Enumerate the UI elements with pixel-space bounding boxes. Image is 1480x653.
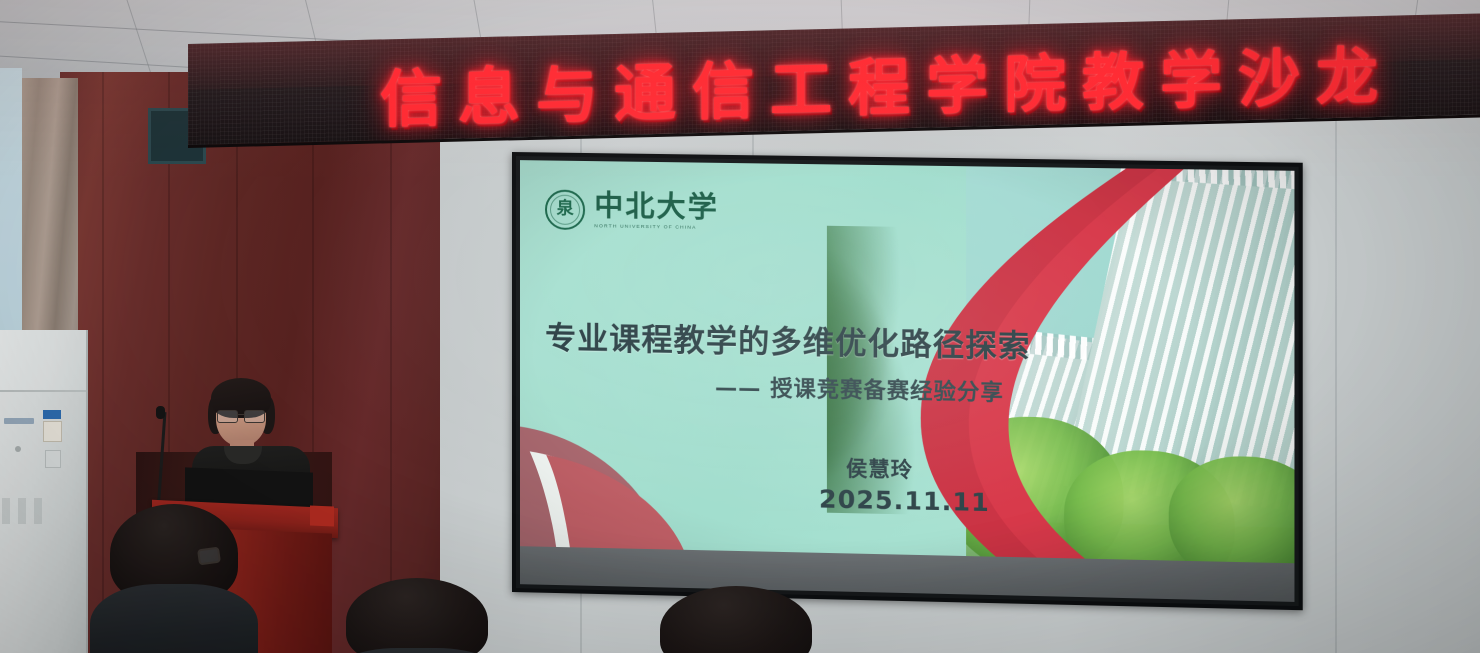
audience-member-left: [110, 504, 238, 653]
projection-screen: 泉 中北大学 NORTH UNIVERSITY OF CHINA 专业课程教学的…: [512, 152, 1303, 610]
ac-blue-sticker: [43, 410, 61, 419]
presentation-slide: 泉 中北大学 NORTH UNIVERSITY OF CHINA 专业课程教学的…: [520, 160, 1294, 563]
ac-energy-label: [43, 421, 62, 442]
slide-presenter-name: 侯慧玲: [846, 452, 913, 484]
ac-upper-grille: [0, 330, 86, 392]
projection-surface: 泉 中北大学 NORTH UNIVERSITY OF CHINA 专业课程教学的…: [520, 160, 1294, 602]
logo-text-block: 中北大学 NORTH UNIVERSITY OF CHINA: [594, 191, 719, 231]
ac-power-button[interactable]: [15, 446, 21, 452]
slide-title: 专业课程教学的多维优化路径探索: [545, 313, 1030, 367]
lecture-hall-photo: 信息与通信工程学院教学沙龙: [0, 0, 1480, 653]
audience-glasses-icon: [197, 547, 221, 566]
slide-date: 2025.11.11: [819, 485, 990, 518]
audience-member-center: [346, 578, 488, 653]
emblem-glyph: 泉: [557, 201, 574, 218]
logo-english-name: NORTH UNIVERSITY OF CHINA: [594, 223, 719, 230]
slide-subtitle: —— 授课竞赛备赛经验分享: [715, 370, 1004, 408]
ac-info-sticker: [45, 450, 61, 468]
floor-air-conditioner: [0, 330, 88, 653]
ac-brand-logo: [4, 418, 34, 424]
ac-vent-slats: [2, 498, 46, 524]
logo-wordmark: 中北大学: [594, 191, 719, 222]
slide-petal-accent: [520, 391, 780, 559]
university-emblem-icon: 泉: [545, 189, 585, 230]
presenter-glasses-icon: [217, 410, 265, 421]
audience-member-right: [660, 586, 812, 653]
university-logo: 泉 中北大学 NORTH UNIVERSITY OF CHINA: [545, 189, 719, 232]
microphone-head-icon: [156, 406, 165, 419]
podium-side-edge: [310, 505, 334, 526]
